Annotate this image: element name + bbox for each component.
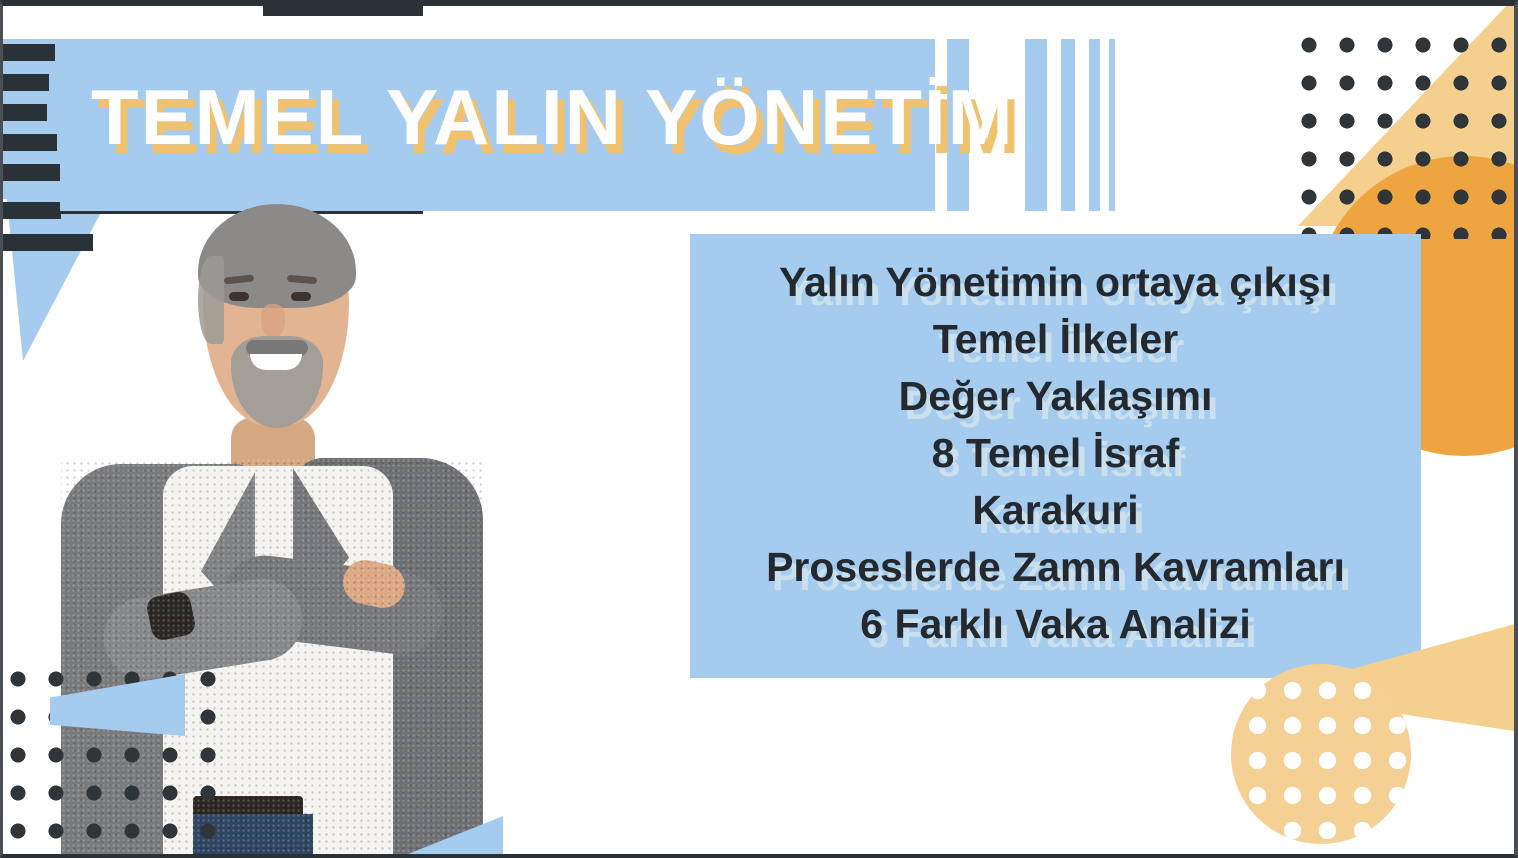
- presenter-nose: [261, 304, 285, 338]
- slide-title: TEMEL YALIN YÖNETİM: [91, 78, 1021, 156]
- topic-line-1: Yalın Yönetimin ortaya çıkışı: [690, 254, 1421, 311]
- dark-stripe-4: [3, 134, 57, 151]
- topic-line-5: Karakuri: [690, 482, 1421, 539]
- presenter-smile: [250, 354, 302, 370]
- tan-dotted-circle: [1231, 664, 1411, 844]
- presenter-eye-right: [291, 292, 311, 301]
- dark-dot-grid-top-right: [1284, 24, 1514, 239]
- topic-line-7: 6 Farklı Vaka Analizi: [690, 596, 1421, 653]
- topic-line-2: Temel İlkeler: [690, 311, 1421, 368]
- accent-bar-3: [1061, 39, 1075, 211]
- dark-stripe-1: [3, 44, 55, 61]
- dark-stripe-2: [3, 74, 49, 91]
- topic-line-4: 8 Temel İsraf: [690, 425, 1421, 482]
- topics-list: Yalın Yönetimin ortaya çıkışı Temel İlke…: [690, 254, 1421, 653]
- topic-line-6: Proseslerde Zamn Kavramları: [690, 539, 1421, 596]
- dark-stripe-5: [3, 164, 61, 181]
- accent-bar-5: [1109, 39, 1115, 211]
- dark-dot-grid-bottom-left: [0, 654, 220, 854]
- presenter-eye-left: [229, 292, 249, 301]
- presenter-sideburn: [198, 256, 224, 344]
- presentation-slide: TEMEL YALIN YÖNETİM Yalın Yönetimin orta…: [0, 0, 1518, 858]
- dark-stripe-top: [263, 6, 423, 16]
- dark-stripe-3: [3, 104, 47, 121]
- accent-bar-2: [1025, 39, 1047, 211]
- accent-bar-4: [1089, 39, 1100, 211]
- topic-line-3: Değer Yaklaşımı: [690, 368, 1421, 425]
